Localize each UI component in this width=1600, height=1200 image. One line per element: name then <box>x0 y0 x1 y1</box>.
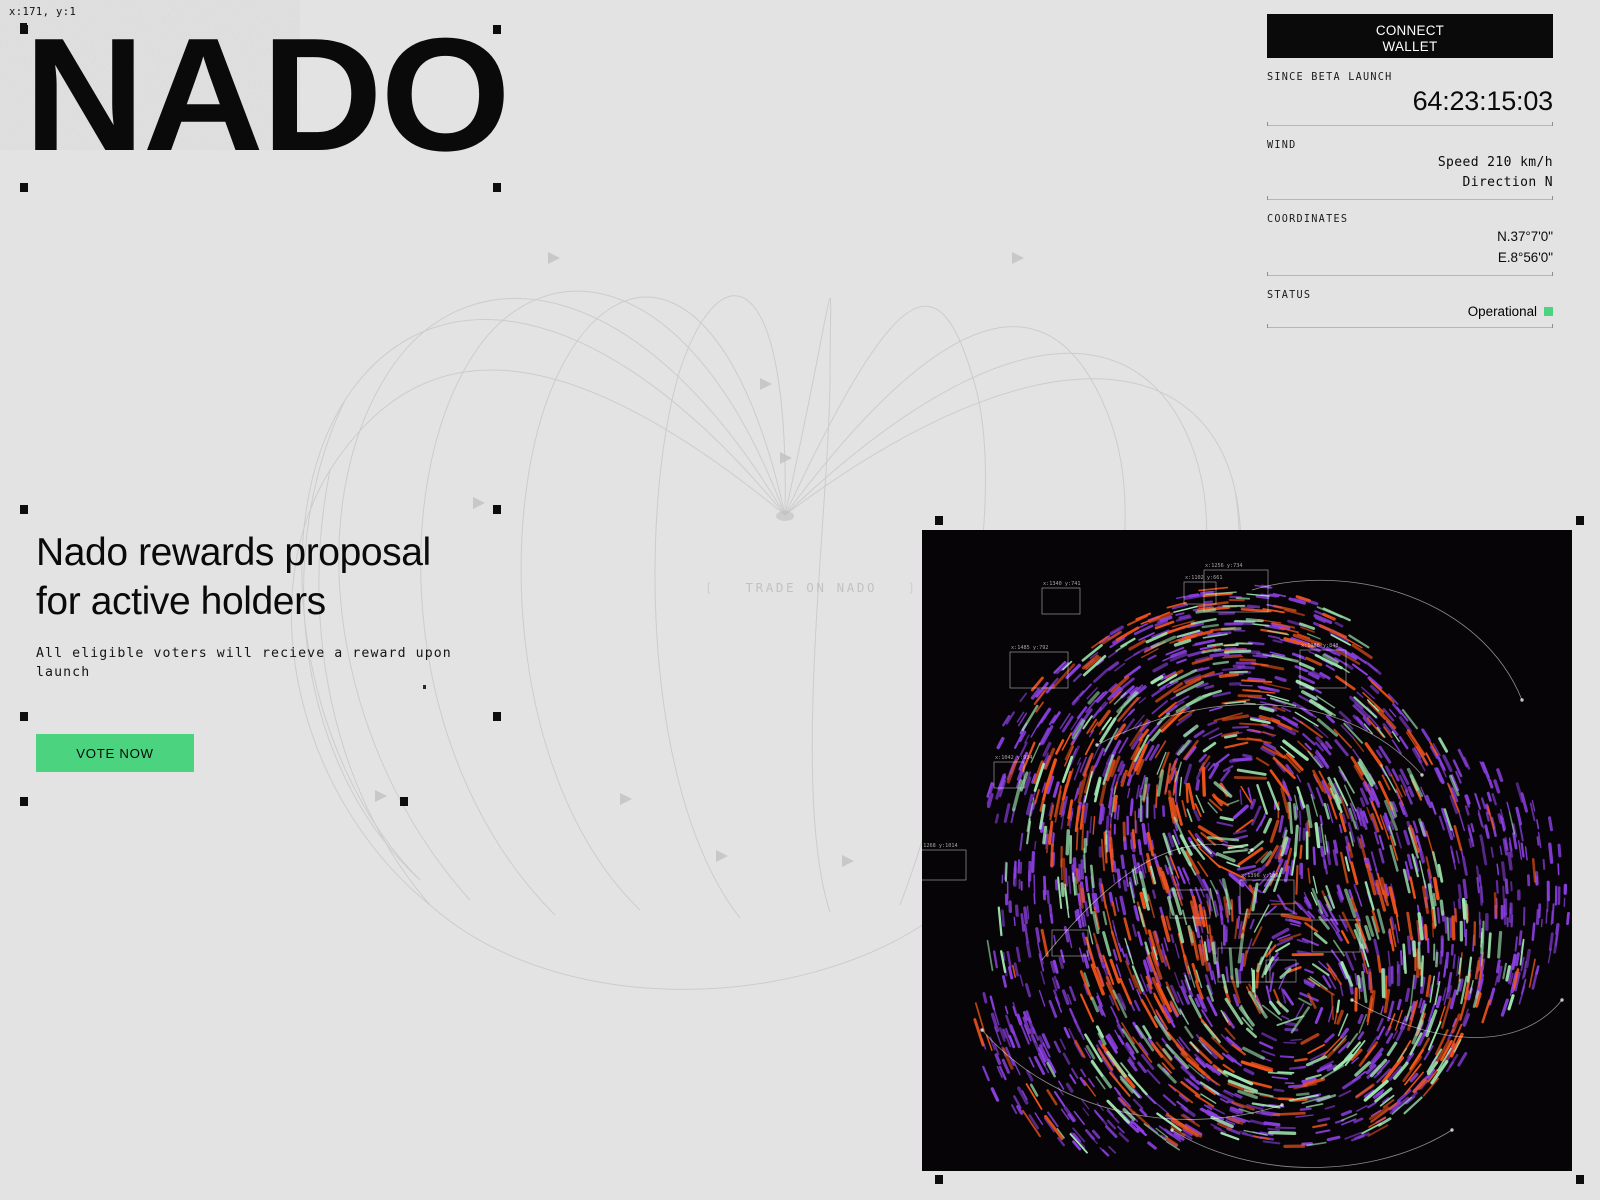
trade-label-text: TRADE ON NADO <box>746 580 878 595</box>
svg-text:x:1042 y:934: x:1042 y:934 <box>995 755 1032 761</box>
hud-block-wind: WIND Speed 210 km/h Direction N <box>1267 126 1553 200</box>
vote-now-button[interactable]: VOTE NOW <box>36 734 194 772</box>
cursor-coordinate-readout: x:171, y:1 <box>9 6 76 18</box>
wind-direction-value: Direction N <box>1267 174 1553 191</box>
registration-mark <box>20 505 28 514</box>
particle-flow-visualization-panel[interactable]: x:1340 y:741x:1256 y:734x:1102 y:661x:14… <box>922 530 1572 1171</box>
registration-mark <box>935 516 943 525</box>
hud-label-coordinates: COORDINATES <box>1267 214 1553 225</box>
hud-block-status: STATUS Operational <box>1267 276 1553 328</box>
hero-title-line-1: Nado rewards proposal <box>36 528 556 577</box>
registration-mark <box>493 505 501 514</box>
connect-wallet-button[interactable]: CONNECT WALLET <box>1267 14 1553 58</box>
svg-text:x:1485 y:792: x:1485 y:792 <box>1011 645 1048 651</box>
bracket-open-icon: [ <box>705 580 715 595</box>
svg-text:x:1102 y:661: x:1102 y:661 <box>1185 575 1222 581</box>
hero-subtitle: All eligible voters will recieve a rewar… <box>36 645 491 682</box>
registration-mark <box>400 797 408 806</box>
registration-mark <box>493 712 501 721</box>
particle-flow-field: x:1340 y:741x:1256 y:734x:1102 y:661x:14… <box>922 530 1572 1171</box>
hud-block-coordinates: COORDINATES N.37°7'0" E.8°56'0" <box>1267 200 1553 276</box>
svg-text:x:1396 y:1066: x:1396 y:1066 <box>1241 873 1282 879</box>
hud-divider <box>1267 327 1553 328</box>
registration-mark <box>935 1175 943 1184</box>
brand-wordmark: NADO <box>24 21 509 169</box>
registration-mark <box>20 712 28 721</box>
page-root: x:171, y:1 NADO [ TRADE ON NADO ] Nado r… <box>0 0 1600 1200</box>
registration-mark <box>20 797 28 806</box>
svg-text:x:1256 y:734: x:1256 y:734 <box>1205 563 1242 569</box>
hud-label-status: STATUS <box>1267 290 1553 301</box>
connect-wallet-line-1: CONNECT <box>1267 23 1553 39</box>
registration-mark <box>1576 1175 1584 1184</box>
connect-wallet-line-2: WALLET <box>1267 39 1553 55</box>
svg-text:x:1340 y:741: x:1340 y:741 <box>1043 581 1080 587</box>
wind-speed-value: Speed 210 km/h <box>1267 154 1553 171</box>
registration-mark <box>493 25 501 34</box>
registration-mark <box>20 183 28 192</box>
hero-title: Nado rewards proposal for active holders <box>36 528 556 626</box>
hud-label-since-beta-launch: SINCE BETA LAUNCH <box>1267 72 1553 83</box>
registration-mark <box>493 183 501 192</box>
coordinate-latitude-value: N.37°7'0" <box>1267 228 1553 246</box>
hud-label-wind: WIND <box>1267 140 1553 151</box>
hud-panel: CONNECT WALLET SINCE BETA LAUNCH 64:23:1… <box>1267 14 1553 328</box>
hero-title-line-2: for active holders <box>36 577 556 626</box>
status-value: Operational <box>1468 304 1537 319</box>
hud-block-since-beta-launch: SINCE BETA LAUNCH 64:23:15:03 <box>1267 58 1553 126</box>
coordinate-longitude-value: E.8°56'0" <box>1267 249 1553 267</box>
countdown-timer-value: 64:23:15:03 <box>1267 86 1553 117</box>
trade-on-nado-label[interactable]: [ TRADE ON NADO ] <box>705 580 918 595</box>
registration-mark <box>1576 516 1584 525</box>
registration-dot <box>423 685 426 689</box>
cursor-marker <box>20 23 27 31</box>
status-indicator-icon <box>1544 307 1553 316</box>
svg-text:x:1088 y:848: x:1088 y:848 <box>1301 643 1338 649</box>
hero-copy-block: Nado rewards proposal for active holders… <box>36 528 556 683</box>
svg-text:x:1268 y:1014: x:1268 y:1014 <box>922 843 958 849</box>
bracket-close-icon: ] <box>908 580 918 595</box>
status-row: Operational <box>1267 304 1553 319</box>
